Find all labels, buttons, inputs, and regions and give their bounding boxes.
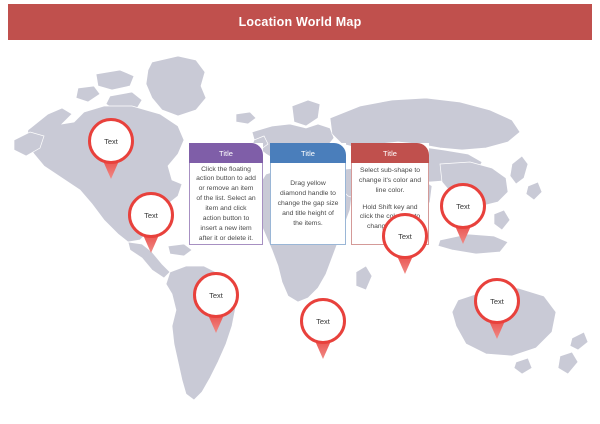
landmass-philippines — [494, 210, 510, 230]
map-pin-label: Text — [490, 297, 504, 306]
callout-purple-paragraph: Click the floating action button to add … — [196, 165, 256, 244]
map-pin-marker[interactable]: Text — [128, 192, 174, 254]
callout-red-header[interactable]: Title — [351, 143, 429, 163]
map-pin-circle[interactable]: Text — [440, 183, 486, 229]
map-pin-circle[interactable]: Text — [193, 272, 239, 318]
world-map-canvas: Title Click the floating action button t… — [0, 44, 600, 424]
callout-blue-title: Title — [301, 149, 315, 158]
map-pin-label: Text — [456, 202, 470, 211]
map-pin-circle[interactable]: Text — [382, 213, 428, 259]
callout-red-title: Title — [383, 149, 397, 158]
landmass-scandinavia — [292, 100, 320, 126]
landmass-new-zealand — [570, 332, 588, 350]
map-pin-circle[interactable]: Text — [88, 118, 134, 164]
callout-purple-header[interactable]: Title — [189, 143, 263, 163]
callout-purple-title: Title — [219, 149, 233, 158]
map-pin-marker[interactable]: Text — [300, 298, 346, 360]
page-header-bar: Location World Map — [8, 4, 592, 40]
map-pin-label: Text — [398, 232, 412, 241]
landmass-new-zealand-2 — [558, 352, 578, 374]
landmass-tasmania — [514, 358, 532, 374]
map-pin-marker[interactable]: Text — [193, 272, 239, 334]
map-pin-marker[interactable]: Text — [88, 118, 134, 180]
map-pin-marker[interactable]: Text — [474, 278, 520, 340]
map-pin-marker[interactable]: Text — [440, 183, 486, 245]
page-title: Location World Map — [239, 15, 362, 29]
callout-red-paragraph-1: Select sub-shape to change it's color an… — [358, 166, 422, 196]
landmass-iceland — [236, 112, 256, 124]
map-pin-label: Text — [316, 317, 330, 326]
callout-purple-body: Click the floating action button to add … — [189, 163, 263, 245]
map-pin-label: Text — [104, 137, 118, 146]
landmass-arctic-islands-3 — [76, 86, 100, 102]
map-pin-circle[interactable]: Text — [474, 278, 520, 324]
callout-blue[interactable]: Title Drag yellow diamond handle to chan… — [270, 143, 346, 245]
map-pin-circle[interactable]: Text — [300, 298, 346, 344]
landmass-greenland — [146, 56, 206, 116]
map-pin-circle[interactable]: Text — [128, 192, 174, 238]
landmass-japan — [510, 156, 528, 184]
landmass-arctic-islands — [96, 70, 134, 90]
callout-purple[interactable]: Title Click the floating action button t… — [189, 143, 263, 245]
landmass-madagascar — [356, 266, 372, 290]
callout-blue-body: Drag yellow diamond handle to change the… — [270, 163, 346, 245]
map-pin-label: Text — [144, 211, 158, 220]
map-pin-marker[interactable]: Text — [382, 213, 428, 275]
landmass-japan-2 — [526, 182, 542, 200]
callout-blue-header[interactable]: Title — [270, 143, 346, 163]
map-pin-label: Text — [209, 291, 223, 300]
callout-blue-paragraph: Drag yellow diamond handle to change the… — [277, 179, 339, 228]
